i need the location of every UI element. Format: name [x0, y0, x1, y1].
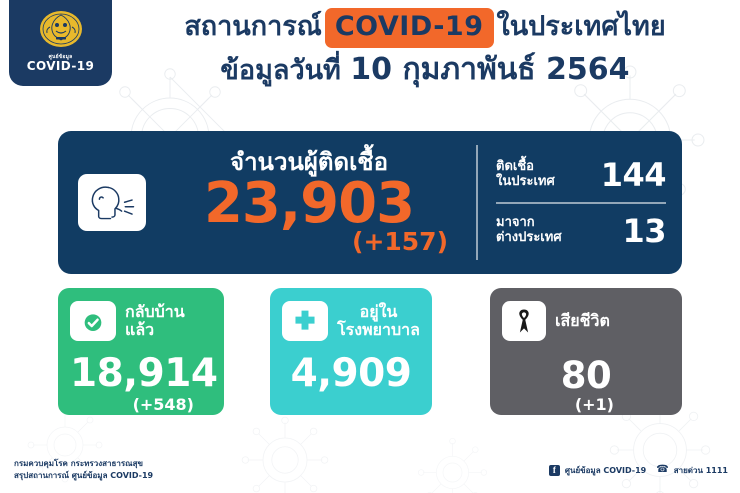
facebook-page-label[interactable]: ศูนย์ข้อมูล COVID-19	[565, 464, 646, 477]
card-hospitalized-title-line1: อยู่ใน	[360, 302, 398, 321]
stat-label-imported: มาจาก ต่างประเทศ	[496, 216, 562, 246]
card-hospitalized-value: 4,909	[282, 354, 420, 393]
page-title-prefix: สถานการณ์	[184, 11, 322, 42]
card-recovered-delta: (+548)	[70, 397, 212, 413]
case-source-breakdown: ติดเชื้อ ในประเทศ 144 มาจาก ต่างประเทศ 1…	[478, 131, 682, 274]
stat-label-domestic-line1: ติดเชื้อ	[496, 159, 534, 174]
page-subtitle-date: ข้อมูลวันที่ 10 กุมภาพันธ์ 2564	[120, 50, 730, 89]
card-deaths-title: เสียชีวิต	[555, 312, 610, 330]
page-title: สถานการณ์COVID-19ในประเทศไทย	[120, 8, 730, 48]
summary-cards: กลับบ้านแล้ว 18,914 (+548) อยู่ใน โรงพยา…	[58, 288, 682, 415]
home-check-icon	[76, 306, 110, 336]
total-cases-value: 23,903	[146, 177, 472, 232]
total-cases-panel: จำนวนผู้ติดเชื้อ 23,903 (+157) ติดเชื้อ …	[58, 131, 682, 274]
card-hospitalized-head: อยู่ใน โรงพยาบาล	[282, 299, 420, 343]
card-recovered-value: 18,914	[70, 354, 212, 393]
total-cases-text-block: จำนวนผู้ติดเชื้อ 23,903 (+157)	[146, 149, 476, 253]
date-value: 10 กุมภาพันธ์ 2564	[350, 52, 629, 87]
page-title-suffix: ในประเทศไทย	[497, 11, 666, 42]
stat-label-imported-line1: มาจาก	[496, 215, 535, 230]
phone-icon: ☎	[656, 465, 668, 475]
card-hospitalized: อยู่ใน โรงพยาบาล 4,909	[270, 288, 432, 415]
date-prefix-label: ข้อมูลวันที่	[220, 55, 340, 86]
stat-value-imported: 13	[622, 215, 666, 247]
thai-government-garuda-emblem-icon	[36, 4, 86, 54]
mourning-ribbon-icon	[514, 307, 534, 335]
footer-agency-info: กรมควบคุมโรค กระทรวงสาธารณสุข สรุปสถานกา…	[14, 458, 153, 481]
card-deaths-value: 80	[502, 357, 670, 394]
card-deaths-head: เสียชีวิต	[502, 299, 670, 343]
card-recovered-head: กลับบ้านแล้ว	[70, 299, 212, 343]
footer-agency-line1: กรมควบคุมโรค กระทรวงสาธารณสุข	[14, 458, 153, 470]
hotline-label[interactable]: สายด่วน 1111	[674, 464, 728, 477]
card-hospitalized-title-line2: โรงพยาบาล	[337, 320, 420, 339]
footer-agency-line2: สรุปสถานการณ์ ศูนย์ข้อมูล COVID-19	[14, 470, 153, 482]
stat-label-domestic: ติดเชื้อ ในประเทศ	[496, 160, 555, 190]
medical-cross-icon	[290, 308, 320, 334]
stat-row-domestic: ติดเชื้อ ในประเทศ 144	[496, 148, 666, 202]
footer: กรมควบคุมโรค กระทรวงสาธารณสุข สรุปสถานกา…	[0, 453, 740, 487]
card-hospitalized-title: อยู่ใน โรงพยาบาล	[337, 303, 420, 339]
total-cases-left: จำนวนผู้ติดเชื้อ 23,903 (+157)	[58, 131, 476, 274]
infographic-root: ศูนย์ข้อมูล COVID-19 สถานการณ์COVID-19ใน…	[0, 0, 740, 493]
stat-label-imported-line2: ต่างประเทศ	[496, 230, 562, 245]
stat-value-domestic: 144	[601, 159, 666, 191]
covid-pill-badge: COVID-19	[325, 8, 494, 48]
footer-contact-info: f ศูนย์ข้อมูล COVID-19 ☎ สายด่วน 1111	[549, 464, 728, 477]
card-recovered-title: กลับบ้านแล้ว	[125, 303, 212, 339]
coughing-person-icon	[86, 183, 138, 223]
header: สถานการณ์COVID-19ในประเทศไทย ข้อมูลวันที…	[120, 8, 730, 89]
logo-main-label: COVID-19	[27, 60, 95, 73]
card-recovered: กลับบ้านแล้ว 18,914 (+548)	[58, 288, 224, 415]
card-deaths-delta: (+1)	[502, 397, 670, 413]
card-deaths: เสียชีวิต 80 (+1)	[490, 288, 682, 415]
facebook-icon[interactable]: f	[549, 465, 560, 476]
coughing-person-icon-container	[78, 174, 146, 231]
covid-info-center-logo-badge: ศูนย์ข้อมูล COVID-19	[9, 0, 112, 86]
medical-cross-icon-container	[282, 301, 328, 341]
mourning-ribbon-icon-container	[502, 301, 546, 341]
home-check-icon-container	[70, 301, 116, 341]
stat-label-domestic-line2: ในประเทศ	[496, 174, 555, 189]
stat-row-imported: มาจาก ต่างประเทศ 13	[496, 204, 666, 258]
